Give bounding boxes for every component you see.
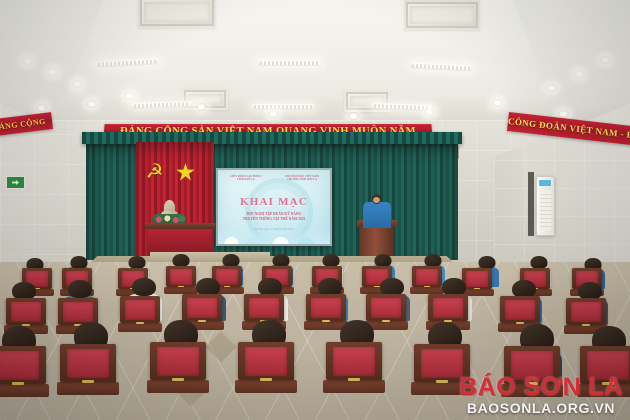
audience-chair	[504, 346, 560, 408]
chair-brass-plate	[436, 380, 447, 383]
chair-back	[60, 344, 116, 382]
audience-chair	[414, 344, 470, 406]
chair-brass-plate	[348, 378, 359, 381]
chair-seat	[147, 380, 210, 392]
audience-chair	[238, 342, 294, 404]
chair-back	[0, 346, 46, 384]
audience-chair	[150, 342, 206, 404]
chair-back	[150, 342, 206, 380]
audience-chair	[60, 344, 116, 406]
conference-hall-photo: ĐẢNG CỘNG ĐẢNG CỘNG SẢN VIỆT NAM QUANG V…	[0, 0, 630, 420]
chair-seat	[57, 382, 120, 394]
audience-chair	[580, 346, 630, 408]
chair-brass-plate	[526, 382, 537, 385]
chair-brass-plate	[82, 380, 93, 383]
chair-back	[504, 346, 560, 384]
chair-brass-plate	[602, 382, 613, 385]
chair-seat	[577, 384, 630, 396]
chair-seat	[411, 382, 474, 394]
chair-back	[580, 346, 630, 384]
chair-brass-plate	[260, 378, 271, 381]
chair-seat	[0, 384, 49, 396]
chair-back	[414, 344, 470, 382]
chair-seat	[323, 380, 386, 392]
chair-back	[326, 342, 382, 380]
audience-chair	[0, 346, 46, 408]
audience-row-front	[0, 0, 630, 420]
chair-seat	[235, 380, 298, 392]
chair-brass-plate	[12, 382, 23, 385]
chair-seat	[501, 384, 564, 396]
audience-chair	[326, 342, 382, 404]
chair-back	[238, 342, 294, 380]
chair-brass-plate	[172, 378, 183, 381]
